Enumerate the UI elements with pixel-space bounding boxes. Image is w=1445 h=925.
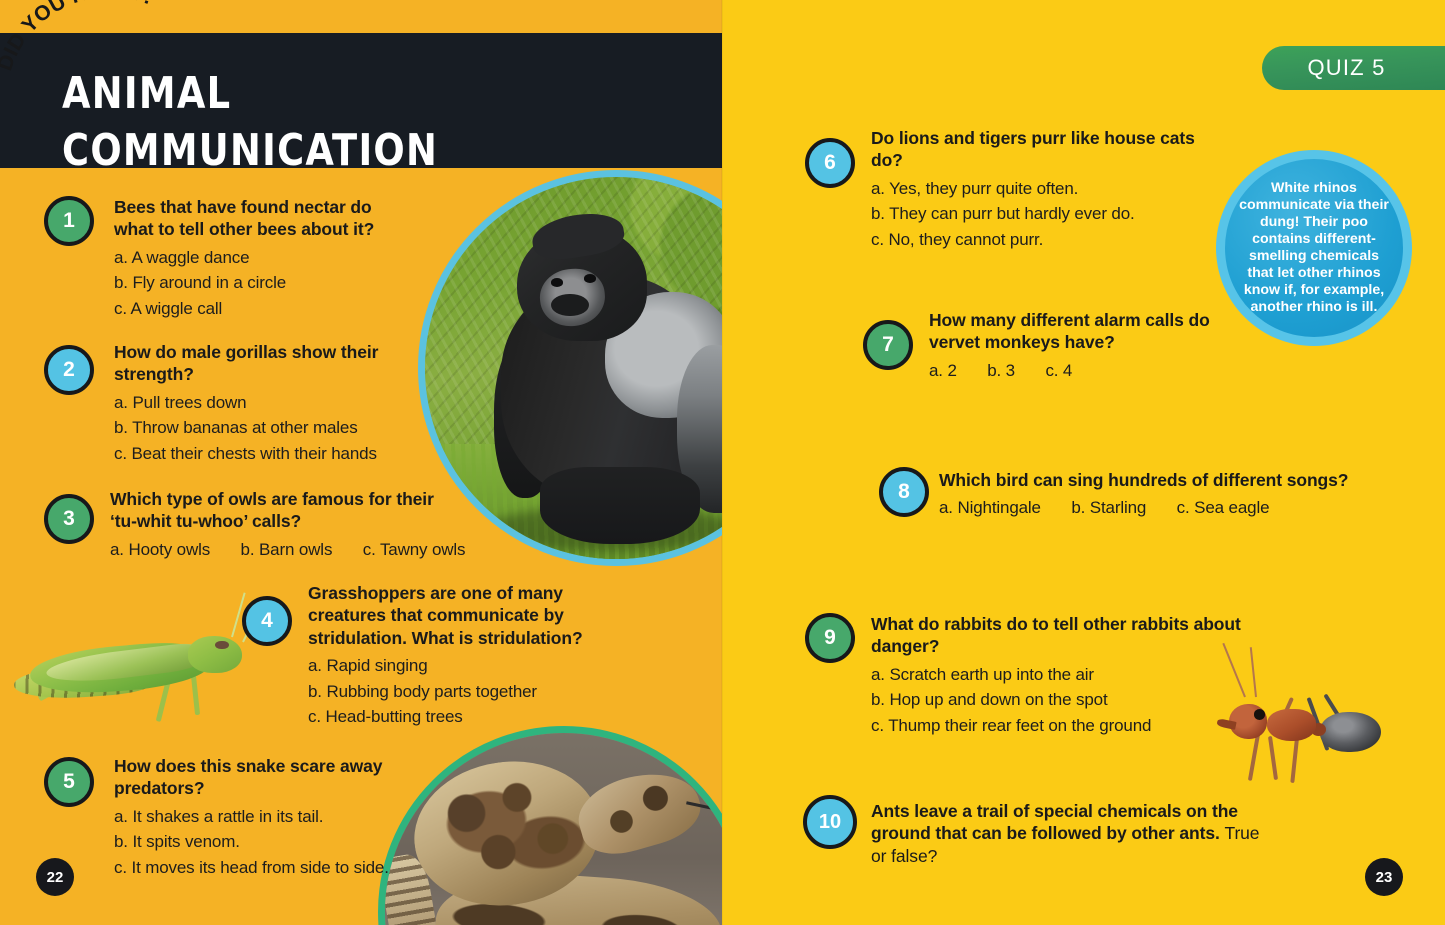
question-option: c. Thump their rear feet on the ground (871, 713, 1281, 739)
question-options-3: a. Hooty owls b. Barn owls c. Tawny owls (110, 537, 460, 563)
question-number-badge-10: 10 (803, 795, 857, 849)
question-number-badge-9: 9 (805, 613, 855, 663)
grasshopper-eye (215, 641, 229, 650)
question-text-6: Do lions and tigers purr like house cats… (871, 127, 1221, 172)
left-page: ANIMAL COMMUNICATION (0, 0, 722, 925)
question-text-8: Which bird can sing hundreds of differen… (939, 469, 1359, 491)
question-options-2: a. Pull trees down b. Throw bananas at o… (114, 390, 434, 467)
question-option: c. A wiggle call (114, 296, 404, 322)
question-options-7: a. 2 b. 3 c. 4 (929, 358, 1229, 384)
did-you-know-heading-arc: DID YOU KNOW? (0, 0, 218, 98)
question-number-3: 3 (63, 507, 75, 531)
question-option: b. Barn owls (241, 537, 333, 563)
question-options-8: a. Nightingale b. Starling c. Sea eagle (939, 495, 1359, 521)
question-option: c. It moves its head from side to side. (114, 855, 444, 881)
question-text-5: How does this snake scare away predators… (114, 755, 444, 800)
question-option: c. Head-butting trees (308, 704, 618, 730)
question-text-10: Ants leave a trail of special chemicals … (871, 800, 1266, 867)
question-number-badge-7: 7 (863, 320, 913, 370)
question-number-badge-4: 4 (242, 596, 292, 646)
page-number-left-value: 22 (47, 869, 64, 886)
question-option: a. Hooty owls (110, 537, 210, 563)
question-option: a. It shakes a rattle in its tail. (114, 804, 444, 830)
question-text-7: How many different alarm calls do vervet… (929, 309, 1229, 354)
question-text-10-main: Ants leave a trail of special chemicals … (871, 801, 1238, 843)
question-number-9: 9 (824, 626, 836, 650)
question-option: a. Rapid singing (308, 653, 618, 679)
question-number-10: 10 (819, 811, 841, 834)
question-options-4: a. Rapid singing b. Rubbing body parts t… (308, 653, 618, 730)
question-number-badge-1: 1 (44, 196, 94, 246)
question-number-7: 7 (882, 333, 894, 357)
page-number-left: 22 (36, 858, 74, 896)
question-option: b. They can purr but hardly ever do. (871, 201, 1221, 227)
question-number-badge-5: 5 (44, 757, 94, 807)
ant-leg-2 (1268, 736, 1278, 780)
question-option: b. Starling (1071, 495, 1146, 521)
question-option: a. Pull trees down (114, 390, 434, 416)
did-you-know-bubble: White rhinos communicate via their dung!… (1216, 150, 1412, 346)
question-option: c. Sea eagle (1177, 495, 1270, 521)
page-title-line-2: COMMUNICATION (62, 125, 438, 176)
page-number-right: 23 (1365, 858, 1403, 896)
question-options-1: a. A waggle dance b. Fly around in a cir… (114, 245, 404, 322)
question-option: b. Throw bananas at other males (114, 415, 434, 441)
question-option: b. Rubbing body parts together (308, 679, 618, 705)
question-option: a. A waggle dance (114, 245, 404, 271)
gorilla-legs (540, 467, 700, 543)
question-option: b. Fly around in a circle (114, 270, 404, 296)
question-number-2: 2 (63, 358, 75, 382)
question-text-9: What do rabbits do to tell other rabbits… (871, 613, 1281, 658)
question-number-1: 1 (63, 209, 75, 233)
did-you-know-heading: DID YOU KNOW? (0, 0, 159, 74)
grasshopper-leg-2 (191, 675, 200, 715)
gorilla-photo (418, 170, 722, 566)
question-text-2: How do male gorillas show their strength… (114, 341, 434, 386)
question-number-8: 8 (898, 480, 910, 504)
grasshopper-photo (0, 596, 264, 720)
question-number-badge-3: 3 (44, 494, 94, 544)
quiz-tab-label: QUIZ 5 (1307, 55, 1385, 81)
did-you-know-body-text: White rhinos communicate via their dung!… (1232, 166, 1396, 330)
question-options-9: a. Scratch earth up into the air b. Hop … (871, 662, 1281, 739)
question-option: a. Yes, they purr quite often. (871, 176, 1221, 202)
gorilla-left-eye (551, 278, 563, 286)
question-number-4: 4 (261, 609, 273, 633)
question-options-6: a. Yes, they purr quite often. b. They c… (871, 176, 1221, 253)
question-option: b. It spits venom. (114, 829, 444, 855)
ant-abdomen (1320, 712, 1381, 753)
question-text-3: Which type of owls are famous for their … (110, 488, 460, 533)
ant-leg-1 (1247, 733, 1259, 781)
question-option: c. No, they cannot purr. (871, 227, 1221, 253)
question-number-badge-6: 6 (805, 138, 855, 188)
question-number-6: 6 (824, 151, 836, 175)
question-text-4: Grasshoppers are one of many creatures t… (308, 582, 618, 649)
question-option: b. 3 (987, 358, 1015, 384)
question-option: a. Nightingale (939, 495, 1041, 521)
question-option: c. Beat their chests with their hands (114, 441, 434, 467)
question-number-badge-8: 8 (879, 467, 929, 517)
question-option: b. Hop up and down on the spot (871, 687, 1281, 713)
question-option: a. 2 (929, 358, 957, 384)
quiz-number-tab: QUIZ 5 (1262, 46, 1445, 90)
page-number-right-value: 23 (1376, 869, 1393, 886)
question-option: a. Scratch earth up into the air (871, 662, 1281, 688)
question-option: c. 4 (1045, 358, 1072, 384)
grasshopper-head (188, 636, 242, 673)
question-number-5: 5 (63, 770, 75, 794)
question-text-1: Bees that have found nectar do what to t… (114, 196, 404, 241)
book-spread: ANIMAL COMMUNICATION (0, 0, 1445, 925)
question-number-badge-2: 2 (44, 345, 94, 395)
question-options-5: a. It shakes a rattle in its tail. b. It… (114, 804, 444, 881)
gorilla-right-eye (584, 274, 596, 282)
